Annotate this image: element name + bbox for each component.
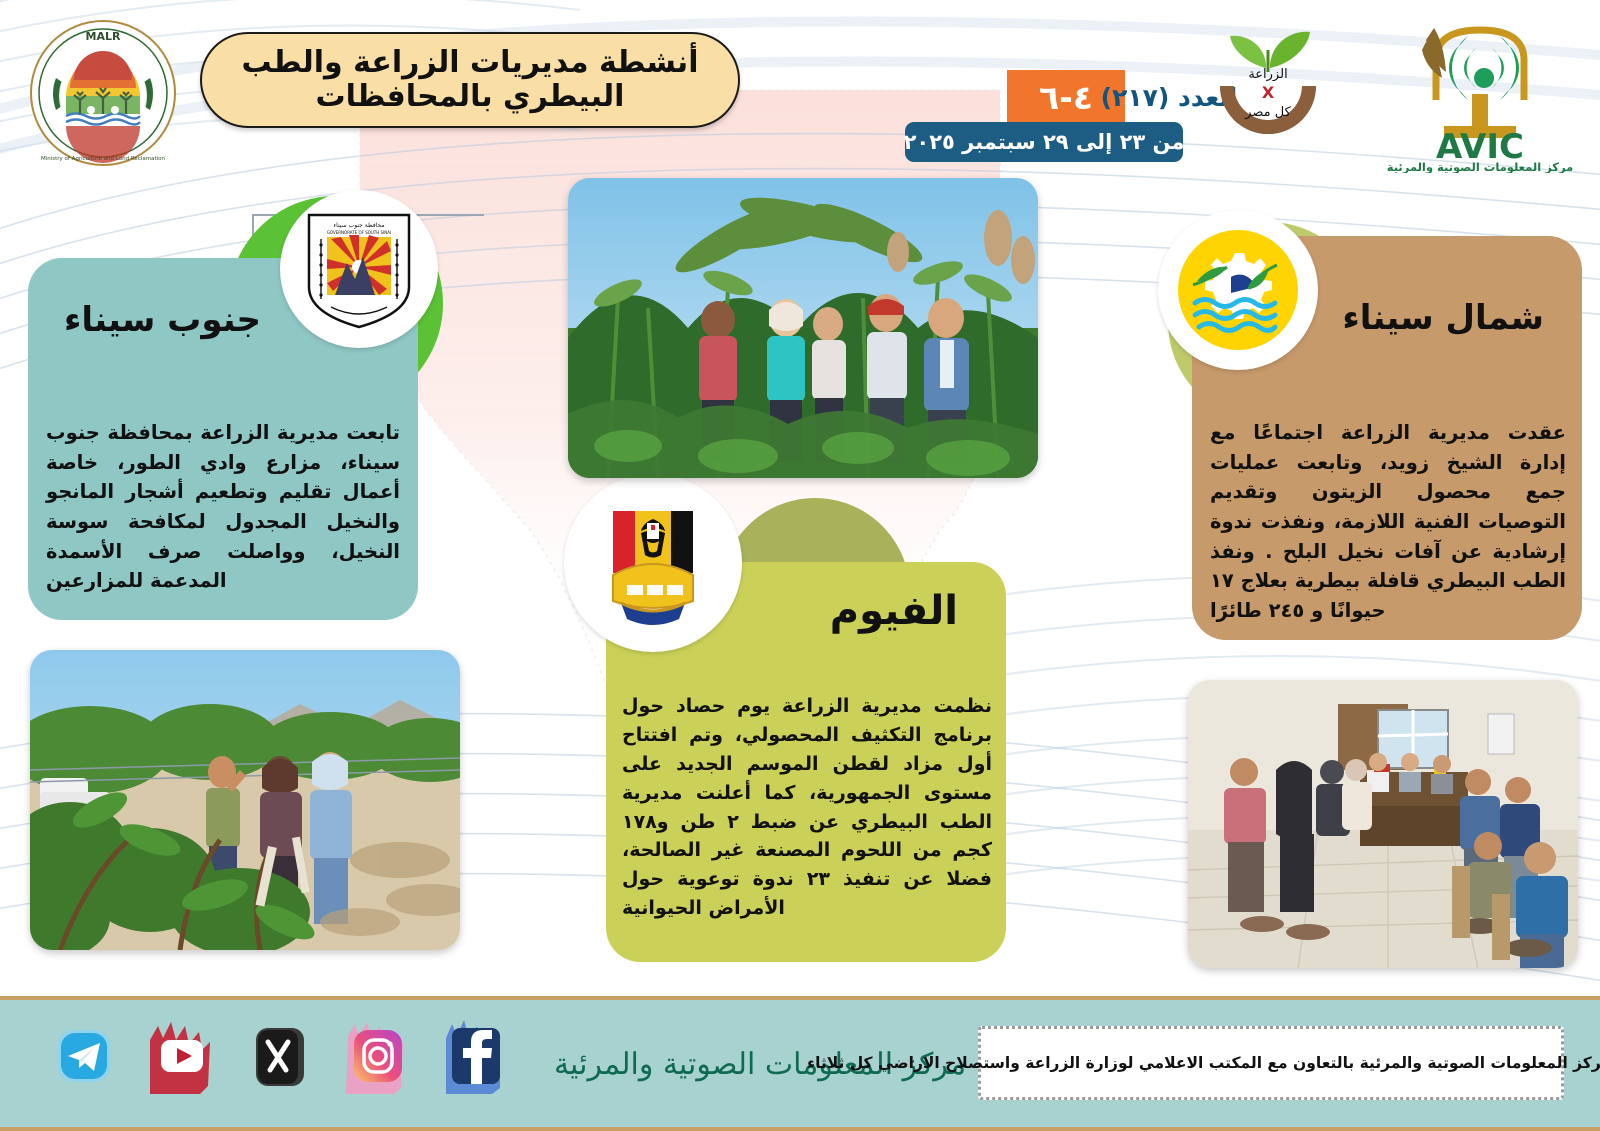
north-sinai-emblem-disc [1158,210,1318,370]
page-title: أنشطة مديريات الزراعة والطب البيطري بالم… [200,32,740,128]
photo-illustration [30,650,460,950]
svg-text:Ministry of Agriculture and La: Ministry of Agriculture and Land Reclama… [41,156,166,162]
page-footer: مركز المعلومات الصوتية والمرئية اصدار اس… [0,996,1600,1131]
zira3a-kol-masr-logo-icon: الزراعة X كل مصر [1198,16,1338,156]
issue-number-row: ٤-٦ العدد (٢١٧) [905,70,1205,122]
svg-text:MALR: MALR [86,30,121,43]
card-south-sinai: جنوب سيناء تابعت مديرية الزراعة بمحافظة … [28,238,458,628]
south-sinai-emblem-disc: محافظة جنوب سيناء GOVERNORATE OF SOUTH S… [280,190,438,348]
avic-logo-icon: AVIC مركز المعلومات الصوتية والمرئية [1380,8,1580,173]
card-text-south-sinai: تابعت مديرية الزراعة بمحافظة جنوب سيناء،… [46,418,400,596]
card-text-north-sinai: عقدت مديرية الزراعة اجتماعًا مع إدارة ال… [1210,418,1566,625]
fayoum-governorate-emblem-icon [583,493,723,633]
card-text-fayoum: نظمت مديرية الزراعة يوم حصاد حول برنامج … [622,692,992,923]
indoor-seminar-meeting-photo [1188,680,1578,968]
social-links [46,1018,514,1094]
facebook-icon[interactable] [438,1018,514,1094]
card-fayoum: الفيوم نظمت مديرية الزراعة يوم حصاد حول … [560,470,1030,970]
mango-orchard-inspection-photo [30,650,460,950]
date-range-text: من ٢٣ إلى ٢٩ سبتمبر ٢٠٢٥ [904,130,1185,154]
photo-illustration [568,178,1038,478]
card-north-sinai: شمال سيناء عقدت مديرية الزراعة اجتماعًا … [1150,228,1580,648]
svg-text:كل مصر: كل مصر [1244,105,1291,120]
svg-text:الزراعة: الزراعة [1248,67,1287,82]
footer-note-text: اصدار اسبوعي لمركز المعلومات الصوتية وال… [807,1054,1600,1072]
fayoum-emblem-disc [564,474,742,652]
footer-note-box: اصدار اسبوعي لمركز المعلومات الصوتية وال… [978,1026,1564,1100]
instagram-icon[interactable] [340,1018,416,1094]
north-sinai-governorate-emblem-icon [1173,225,1303,355]
page-title-text: أنشطة مديريات الزراعة والطب البيطري بالم… [202,46,738,115]
telegram-icon[interactable] [46,1018,122,1094]
card-title-north-sinai: شمال سيناء [1342,298,1544,338]
photo-illustration [1188,680,1578,968]
svg-text:X: X [1262,83,1275,102]
svg-text:محافظة جنوب سيناء: محافظة جنوب سيناء [333,222,384,229]
youtube-icon[interactable] [144,1018,220,1094]
issue-badge-text: ٤-٦ [1039,78,1093,117]
x-twitter-icon[interactable] [242,1018,318,1094]
malr-ministry-logo-icon: MALR Ministry of Agriculture and Land Re… [28,18,178,168]
svg-text:مركز المعلومات الصوتية والمرئي: مركز المعلومات الصوتية والمرئية [1387,160,1574,173]
date-range-badge: من ٢٣ إلى ٢٩ سبتمبر ٢٠٢٥ [905,122,1183,162]
card-title-fayoum: الفيوم [830,588,958,634]
issue-label: العدد (٢١٧) [1133,74,1205,120]
svg-text:GOVERNORATE OF SOUTH SINAI: GOVERNORATE OF SOUTH SINAI [327,230,391,235]
field-visit-palm-sorghum-photo [568,178,1038,478]
card-title-south-sinai: جنوب سيناء [64,300,261,340]
south-sinai-governorate-emblem-icon: محافظة جنوب سيناء GOVERNORATE OF SOUTH S… [301,207,417,331]
page-header: MALR Ministry of Agriculture and Land Re… [0,0,1600,180]
